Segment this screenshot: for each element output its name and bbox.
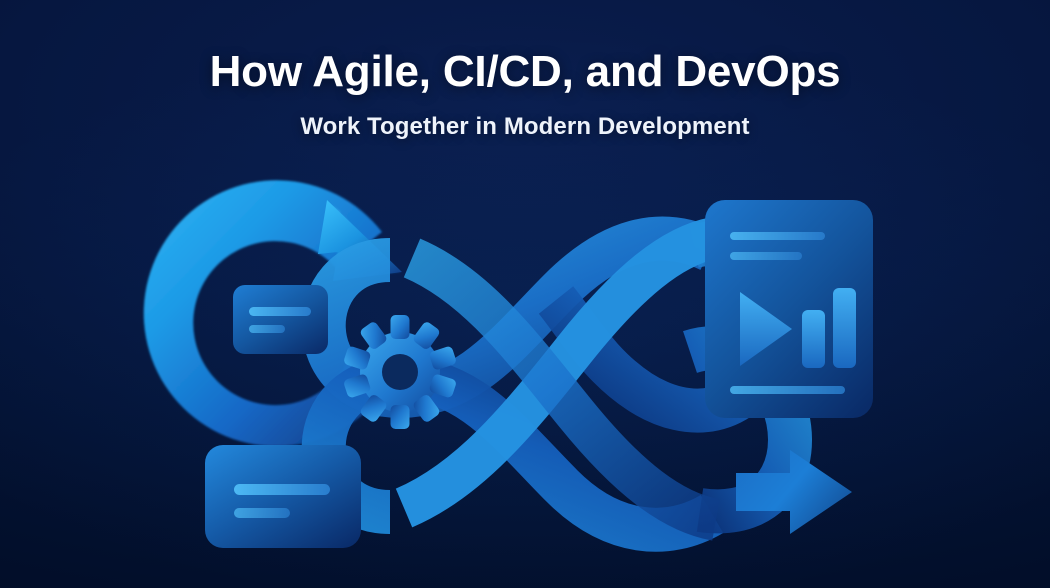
chart-bar-tall xyxy=(833,288,856,368)
chart-bar-short xyxy=(802,310,825,368)
page-title: How Agile, CI/CD, and DevOps xyxy=(0,0,1050,96)
backlog-card xyxy=(233,285,328,354)
page-subtitle: Work Together in Modern Development xyxy=(0,96,1050,140)
heading-block: How Agile, CI/CD, and DevOps Work Togeth… xyxy=(0,0,1050,140)
requirements-card xyxy=(205,445,361,548)
hero-banner: How Agile, CI/CD, and DevOps Work Togeth… xyxy=(0,0,1050,588)
release-dashboard-panel xyxy=(705,200,873,418)
